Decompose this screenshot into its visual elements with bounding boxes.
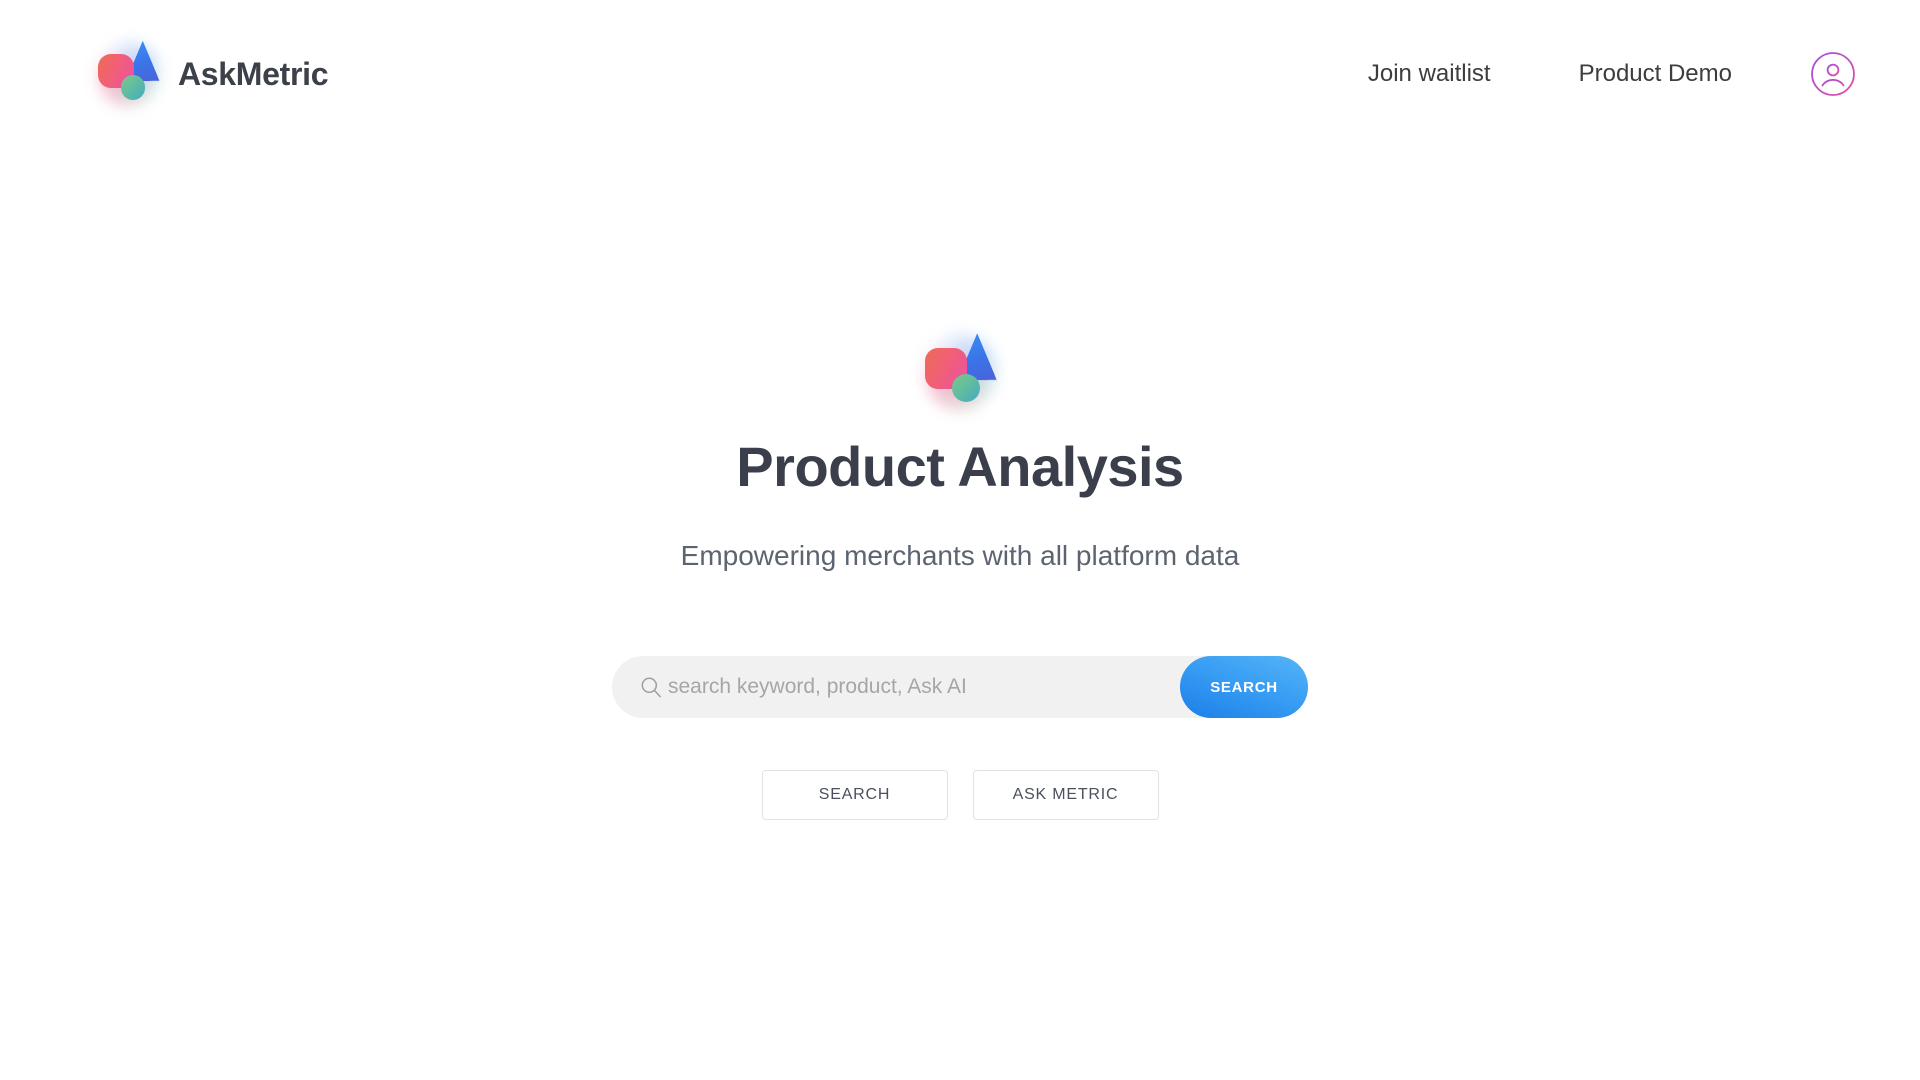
askmetric-logo-icon: [92, 38, 164, 110]
search-submit-button[interactable]: SEARCH: [1180, 656, 1308, 718]
logo-circle-shape: [121, 75, 145, 99]
search-button[interactable]: SEARCH: [762, 770, 948, 820]
hero-askmetric-logo-icon: [918, 330, 1002, 414]
nav-join-waitlist[interactable]: Join waitlist: [1324, 50, 1535, 98]
hero-logo-circle-shape: [952, 374, 981, 403]
brand-logo[interactable]: AskMetric: [92, 38, 328, 110]
search-bar: SEARCH: [612, 656, 1308, 718]
action-buttons: SEARCH ASK METRIC: [762, 770, 1159, 820]
page-root: AskMetric Join waitlist Product Demo: [0, 0, 1920, 1080]
ask-metric-button[interactable]: ASK METRIC: [973, 770, 1159, 820]
header-nav: Join waitlist Product Demo: [1324, 50, 1878, 98]
brand-name: AskMetric: [178, 56, 328, 93]
user-avatar-icon[interactable]: [1810, 51, 1856, 97]
page-title: Product Analysis: [736, 436, 1183, 499]
nav-product-demo[interactable]: Product Demo: [1535, 50, 1776, 98]
page-subtitle: Empowering merchants with all platform d…: [681, 539, 1240, 573]
hero-section: Product Analysis Empowering merchants wi…: [0, 330, 1920, 820]
app-header: AskMetric Join waitlist Product Demo: [0, 0, 1920, 148]
